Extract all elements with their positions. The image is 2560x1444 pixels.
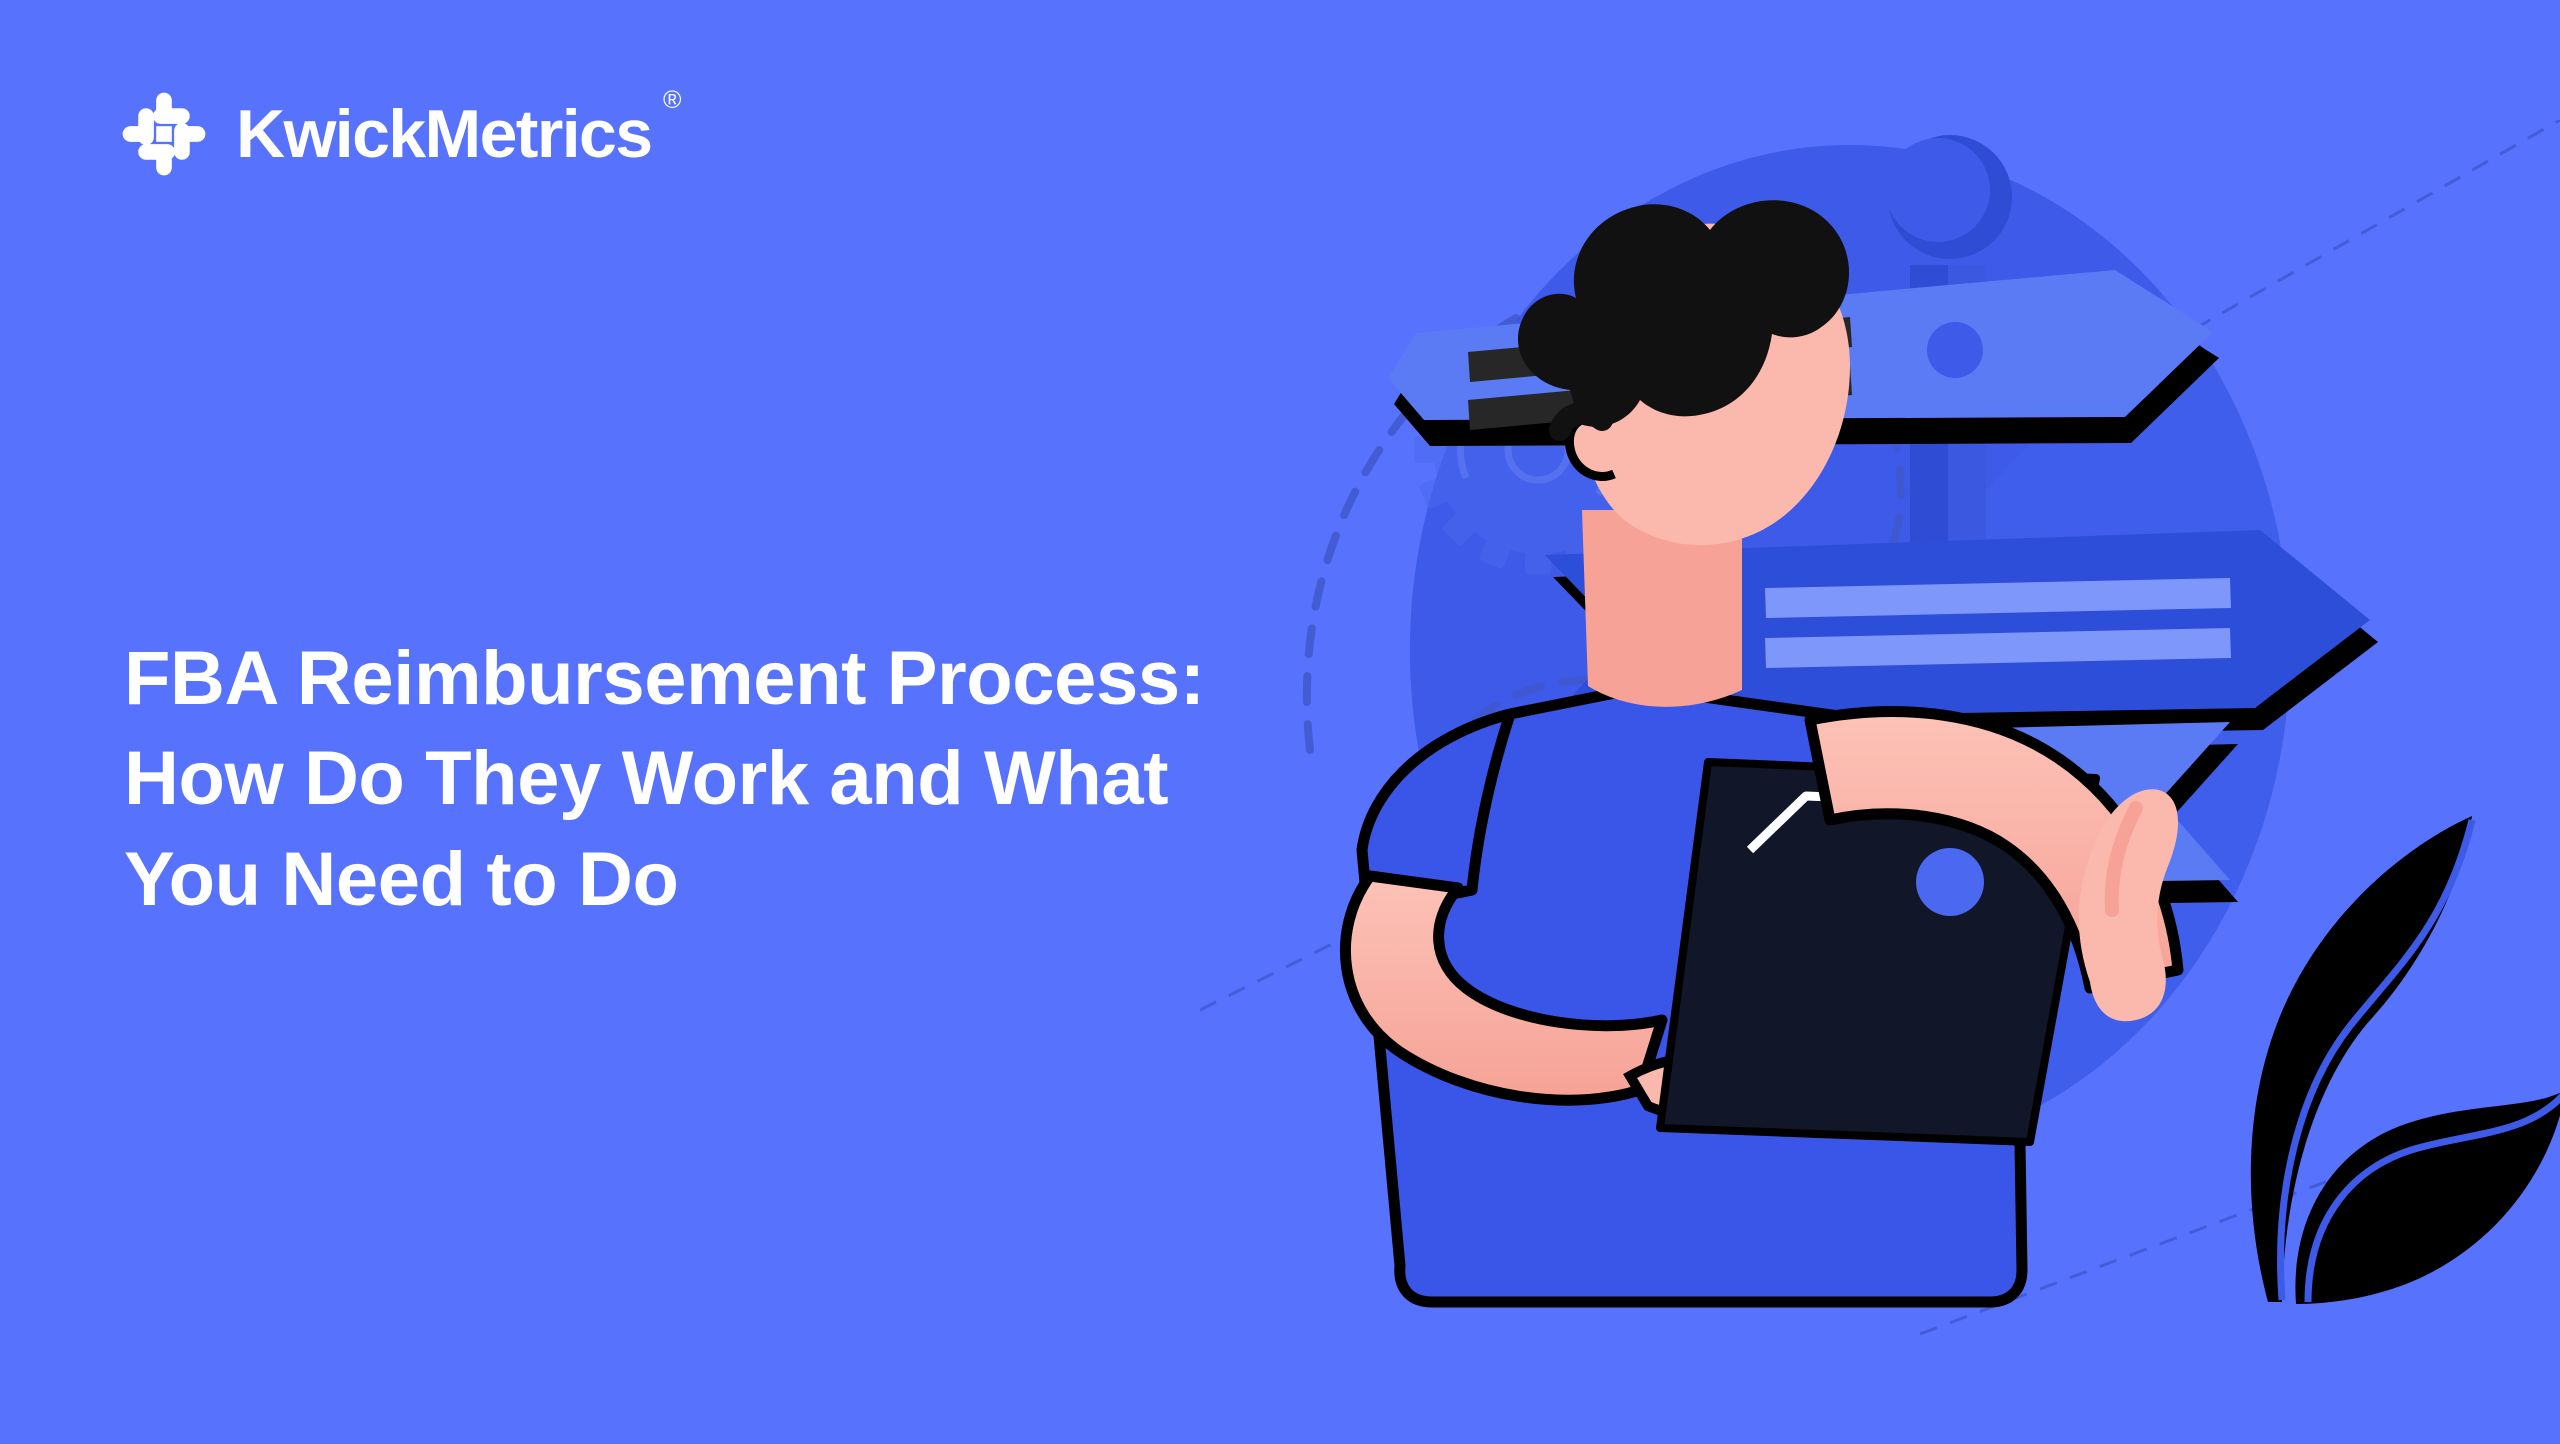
person-pointing-at-signpost-illustration xyxy=(1210,90,2560,1380)
cover-banner: KwickMetrics® FBA Reimbursement Process:… xyxy=(0,0,2560,1444)
page-title: FBA Reimbursement Process: How Do They W… xyxy=(124,629,1304,930)
pinwheel-logo-icon xyxy=(118,88,210,180)
brand-wordmark: KwickMetrics® xyxy=(236,100,651,168)
sign-top-dot-icon xyxy=(1927,322,1983,378)
tablet-camera-icon xyxy=(1916,848,1984,916)
brand-name: KwickMetrics xyxy=(236,96,651,172)
registered-trademark-icon: ® xyxy=(663,88,681,113)
plant-leaf-icon xyxy=(2251,816,2560,1304)
brand-logo[interactable]: KwickMetrics® xyxy=(118,88,651,180)
